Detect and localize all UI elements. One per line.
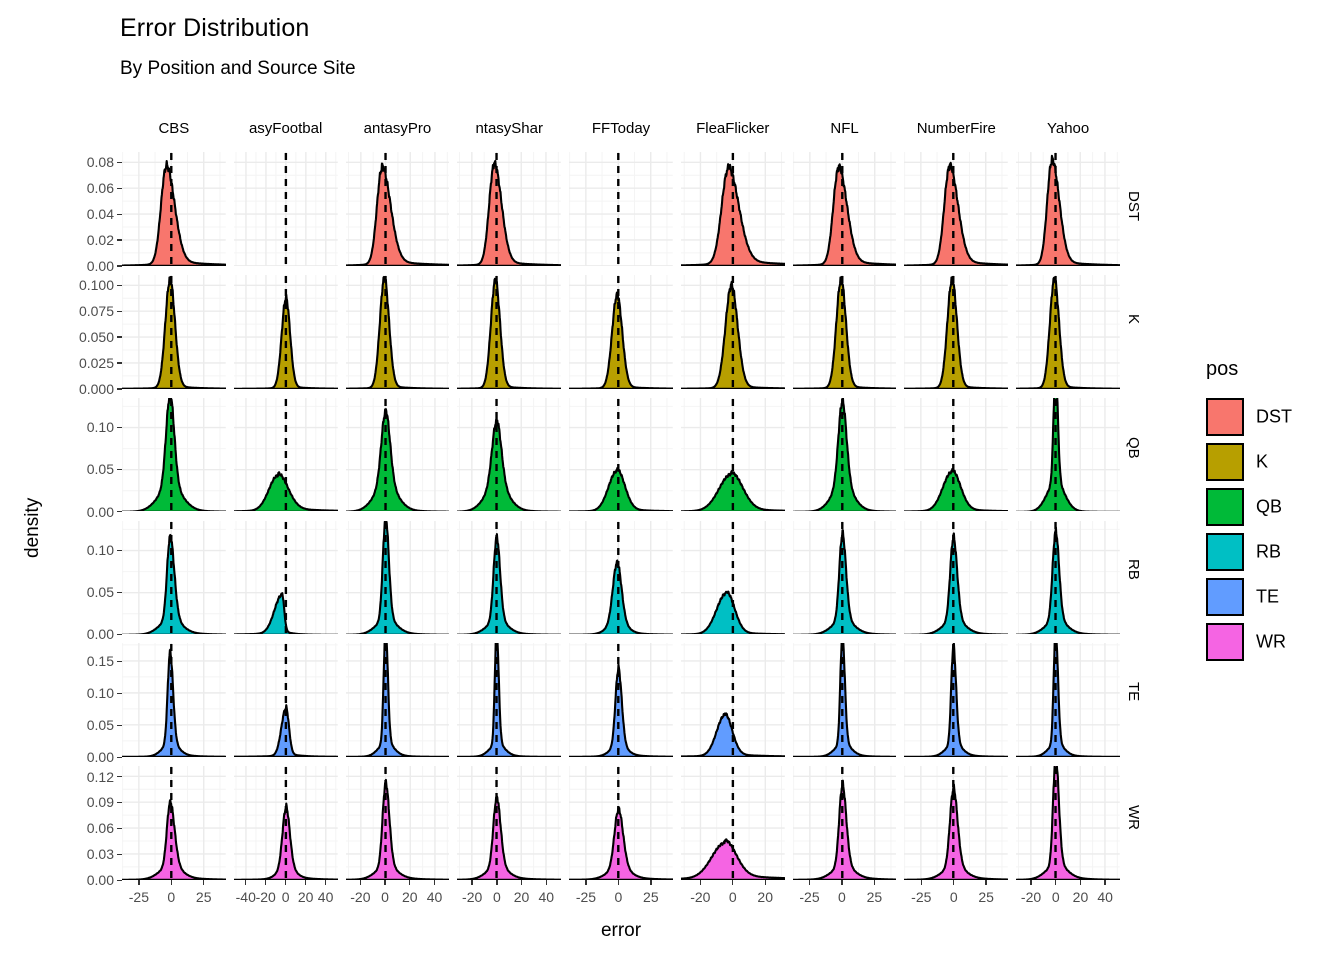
- legend-swatch-dst: [1206, 398, 1244, 436]
- facet-panel-k-numberfire: [904, 275, 1008, 389]
- x-tick-label: 40: [538, 889, 554, 905]
- y-tick-label: 0.00: [58, 749, 114, 765]
- facet-panel-dst-fftoday: [569, 152, 673, 266]
- x-tick-label: -20: [256, 889, 276, 905]
- legend-swatch-te: [1206, 578, 1244, 616]
- facet-panel-rb-cbs: [122, 521, 226, 635]
- x-tick-mark: [1080, 880, 1081, 885]
- facet-panel-dst-yahoo: [1016, 152, 1120, 266]
- facet-panel-k-cbs: [122, 275, 226, 389]
- x-axis-label: error: [122, 920, 1120, 942]
- y-tick-label: 0.00: [58, 626, 114, 642]
- x-tick-mark: [434, 880, 435, 885]
- x-tick-label: -25: [911, 889, 931, 905]
- x-tick-mark: [953, 880, 954, 885]
- x-tick-mark: [921, 880, 922, 885]
- y-tick-mark: [117, 550, 122, 551]
- facet-panel-te-fantasypros: [346, 643, 450, 757]
- legend-label-wr: WR: [1256, 632, 1286, 653]
- facet-panel-rb-fleaflicker: [681, 521, 785, 635]
- y-tick-mark: [117, 362, 122, 363]
- x-tick-label: -20: [462, 889, 482, 905]
- x-tick-label: 0: [1052, 889, 1060, 905]
- x-tick-label: 0: [838, 889, 846, 905]
- y-tick-mark: [117, 388, 122, 389]
- x-tick-mark: [265, 880, 266, 885]
- y-tick-label: 0.06: [58, 820, 114, 836]
- y-axis-label: density: [22, 498, 44, 558]
- x-tick-mark: [245, 880, 246, 885]
- x-tick-mark: [809, 880, 810, 885]
- column-strip-nfl: NFL: [793, 118, 897, 140]
- row-strip-rb: RB: [1125, 559, 1142, 580]
- facet-panel-te-fleaflicker: [681, 643, 785, 757]
- row-strip-te: TE: [1125, 682, 1142, 701]
- y-tick-mark: [117, 854, 122, 855]
- x-tick-mark: [203, 880, 204, 885]
- y-tick-mark: [117, 214, 122, 215]
- facet-panel-qb-yahoo: [1016, 398, 1120, 512]
- y-tick-label: 0.00: [58, 258, 114, 274]
- x-tick-mark: [1055, 880, 1056, 885]
- y-tick-mark: [117, 693, 122, 694]
- column-strip-cbs: CBS: [122, 118, 226, 140]
- legend-swatch-qb: [1206, 488, 1244, 526]
- y-tick-mark: [117, 427, 122, 428]
- facet-panel-qb-fantasypros: [346, 398, 450, 512]
- facet-panel-qb-fantasysharks: [457, 398, 561, 512]
- legend-title: pos: [1206, 358, 1238, 381]
- facet-panel-qb-fantasyfootball: [234, 398, 338, 512]
- y-tick-mark: [117, 661, 122, 662]
- x-tick-mark: [1030, 880, 1031, 885]
- error-distribution-chart: Error Distribution By Position and Sourc…: [0, 0, 1344, 960]
- y-tick-label: 0.00: [58, 872, 114, 888]
- facet-panel-qb-cbs: [122, 398, 226, 512]
- x-tick-label: 40: [427, 889, 443, 905]
- y-tick-mark: [117, 757, 122, 758]
- y-tick-label: 0.10: [58, 542, 114, 558]
- legend-label-rb: RB: [1256, 542, 1281, 563]
- facet-panel-qb-fftoday: [569, 398, 673, 512]
- y-tick-label: 0.10: [58, 685, 114, 701]
- facet-panel-dst-fantasypros: [346, 152, 450, 266]
- facet-panel-rb-yahoo: [1016, 521, 1120, 635]
- facet-panel-wr-fantasypros: [346, 766, 450, 880]
- x-tick-label: -25: [576, 889, 596, 905]
- x-tick-mark: [138, 880, 139, 885]
- x-tick-label: 25: [867, 889, 883, 905]
- x-tick-mark: [874, 880, 875, 885]
- y-tick-label: 0.03: [58, 846, 114, 862]
- x-tick-label: 20: [757, 889, 773, 905]
- legend-label-qb: QB: [1256, 497, 1282, 518]
- facet-panel-dst-numberfire: [904, 152, 1008, 266]
- column-strip-fantasypros: antasyPro: [346, 118, 450, 140]
- facet-panel-rb-fantasypros: [346, 521, 450, 635]
- x-tick-mark: [585, 880, 586, 885]
- y-tick-label: 0.08: [58, 154, 114, 170]
- x-tick-label: 0: [381, 889, 389, 905]
- facet-panel-rb-fftoday: [569, 521, 673, 635]
- facet-panel-k-nfl: [793, 275, 897, 389]
- facet-panel-dst-fantasyfootball: [234, 152, 338, 266]
- x-tick-mark: [841, 880, 842, 885]
- y-tick-label: 0.04: [58, 206, 114, 222]
- x-tick-label: 0: [282, 889, 290, 905]
- y-tick-label: 0.000: [58, 381, 114, 397]
- facet-panel-k-fantasyfootball: [234, 275, 338, 389]
- y-tick-label: 0.100: [58, 277, 114, 293]
- y-tick-mark: [117, 880, 122, 881]
- facet-panel-te-fantasysharks: [457, 643, 561, 757]
- facet-panel-k-fftoday: [569, 275, 673, 389]
- legend-swatch-wr: [1206, 623, 1244, 661]
- row-strip-qb: QB: [1125, 437, 1142, 459]
- x-tick-mark: [765, 880, 766, 885]
- x-tick-label: 25: [196, 889, 212, 905]
- x-tick-label: -25: [129, 889, 149, 905]
- facet-panel-rb-fantasyfootball: [234, 521, 338, 635]
- facet-panel-wr-nfl: [793, 766, 897, 880]
- y-tick-mark: [117, 592, 122, 593]
- x-tick-label: -40: [236, 889, 256, 905]
- y-tick-mark: [117, 776, 122, 777]
- x-tick-label: 20: [402, 889, 418, 905]
- x-tick-mark: [650, 880, 651, 885]
- y-tick-label: 0.050: [58, 329, 114, 345]
- facet-panel-rb-nfl: [793, 521, 897, 635]
- y-tick-label: 0.02: [58, 232, 114, 248]
- legend-label-dst: DST: [1256, 407, 1292, 428]
- facet-panel-dst-cbs: [122, 152, 226, 266]
- y-tick-label: 0.12: [58, 769, 114, 785]
- page-title: Error Distribution: [120, 14, 309, 43]
- facet-panel-wr-fantasysharks: [457, 766, 561, 880]
- facet-panel-k-yahoo: [1016, 275, 1120, 389]
- facet-panel-te-yahoo: [1016, 643, 1120, 757]
- facet-panel-rb-fantasysharks: [457, 521, 561, 635]
- y-tick-mark: [117, 511, 122, 512]
- x-tick-label: -20: [690, 889, 710, 905]
- facet-panel-qb-fleaflicker: [681, 398, 785, 512]
- x-tick-label: 20: [514, 889, 530, 905]
- x-tick-label: 25: [643, 889, 659, 905]
- facet-panel-wr-cbs: [122, 766, 226, 880]
- x-tick-mark: [325, 880, 326, 885]
- x-tick-label: 0: [950, 889, 958, 905]
- facet-panel-wr-yahoo: [1016, 766, 1120, 880]
- y-tick-label: 0.025: [58, 355, 114, 371]
- page-subtitle: By Position and Source Site: [120, 58, 356, 80]
- x-tick-mark: [700, 880, 701, 885]
- facet-panel-te-fantasyfootball: [234, 643, 338, 757]
- legend-label-te: TE: [1256, 587, 1279, 608]
- y-tick-label: 0.09: [58, 794, 114, 810]
- column-strip-yahoo: Yahoo: [1016, 118, 1120, 140]
- facet-panel-te-nfl: [793, 643, 897, 757]
- legend-swatch-k: [1206, 443, 1244, 481]
- x-tick-label: 0: [167, 889, 175, 905]
- facet-panel-wr-fftoday: [569, 766, 673, 880]
- facet-panel-k-fantasysharks: [457, 275, 561, 389]
- y-tick-mark: [117, 336, 122, 337]
- facet-panel-k-fantasypros: [346, 275, 450, 389]
- row-strip-k: K: [1125, 314, 1142, 324]
- column-strip-fftoday: FFToday: [569, 118, 673, 140]
- x-tick-label: 20: [1073, 889, 1089, 905]
- facet-panel-rb-numberfire: [904, 521, 1008, 635]
- x-tick-label: -20: [1021, 889, 1041, 905]
- y-tick-label: 0.05: [58, 461, 114, 477]
- x-tick-mark: [521, 880, 522, 885]
- y-tick-label: 0.06: [58, 180, 114, 196]
- y-tick-label: 0.075: [58, 303, 114, 319]
- facet-panel-wr-numberfire: [904, 766, 1008, 880]
- y-tick-mark: [117, 311, 122, 312]
- facet-panel-dst-nfl: [793, 152, 897, 266]
- y-tick-mark: [117, 802, 122, 803]
- x-tick-mark: [305, 880, 306, 885]
- y-tick-label: 0.00: [58, 504, 114, 520]
- facet-panel-dst-fleaflicker: [681, 152, 785, 266]
- y-tick-label: 0.05: [58, 584, 114, 600]
- y-tick-mark: [117, 162, 122, 163]
- y-tick-mark: [117, 265, 122, 266]
- facet-panel-te-numberfire: [904, 643, 1008, 757]
- x-tick-label: -25: [799, 889, 819, 905]
- x-tick-mark: [171, 880, 172, 885]
- x-tick-label: 0: [614, 889, 622, 905]
- facet-panel-qb-nfl: [793, 398, 897, 512]
- x-tick-label: 0: [729, 889, 737, 905]
- x-tick-mark: [360, 880, 361, 885]
- facet-panel-te-cbs: [122, 643, 226, 757]
- y-tick-mark: [117, 285, 122, 286]
- x-tick-label: 0: [493, 889, 501, 905]
- y-tick-label: 0.05: [58, 717, 114, 733]
- y-tick-mark: [117, 239, 122, 240]
- x-tick-mark: [409, 880, 410, 885]
- x-tick-mark: [285, 880, 286, 885]
- facet-panel-k-fleaflicker: [681, 275, 785, 389]
- x-tick-mark: [732, 880, 733, 885]
- y-tick-label: 0.15: [58, 653, 114, 669]
- facet-panel-qb-numberfire: [904, 398, 1008, 512]
- facet-panel-dst-fantasysharks: [457, 152, 561, 266]
- x-tick-mark: [471, 880, 472, 885]
- y-tick-mark: [117, 828, 122, 829]
- x-tick-mark: [1104, 880, 1105, 885]
- x-tick-label: 40: [318, 889, 334, 905]
- y-tick-mark: [117, 634, 122, 635]
- column-strip-fantasyfootball: asyFootbal: [234, 118, 338, 140]
- column-strip-fleaflicker: FleaFlicker: [681, 118, 785, 140]
- x-tick-mark: [546, 880, 547, 885]
- y-tick-mark: [117, 469, 122, 470]
- y-tick-mark: [117, 188, 122, 189]
- x-tick-label: 40: [1097, 889, 1113, 905]
- legend-label-k: K: [1256, 452, 1268, 473]
- column-strip-numberfire: NumberFire: [904, 118, 1008, 140]
- x-tick-mark: [384, 880, 385, 885]
- x-tick-label: -20: [350, 889, 370, 905]
- x-tick-mark: [618, 880, 619, 885]
- facet-panel-wr-fantasyfootball: [234, 766, 338, 880]
- x-tick-mark: [496, 880, 497, 885]
- x-tick-mark: [985, 880, 986, 885]
- column-strip-fantasysharks: ntasyShar: [457, 118, 561, 140]
- x-tick-label: 25: [978, 889, 994, 905]
- facet-panel-te-fftoday: [569, 643, 673, 757]
- row-strip-wr: WR: [1125, 805, 1142, 830]
- row-strip-dst: DST: [1125, 191, 1142, 221]
- x-tick-label: 20: [298, 889, 314, 905]
- y-tick-mark: [117, 725, 122, 726]
- facet-panel-wr-fleaflicker: [681, 766, 785, 880]
- legend-swatch-rb: [1206, 533, 1244, 571]
- y-tick-label: 0.10: [58, 419, 114, 435]
